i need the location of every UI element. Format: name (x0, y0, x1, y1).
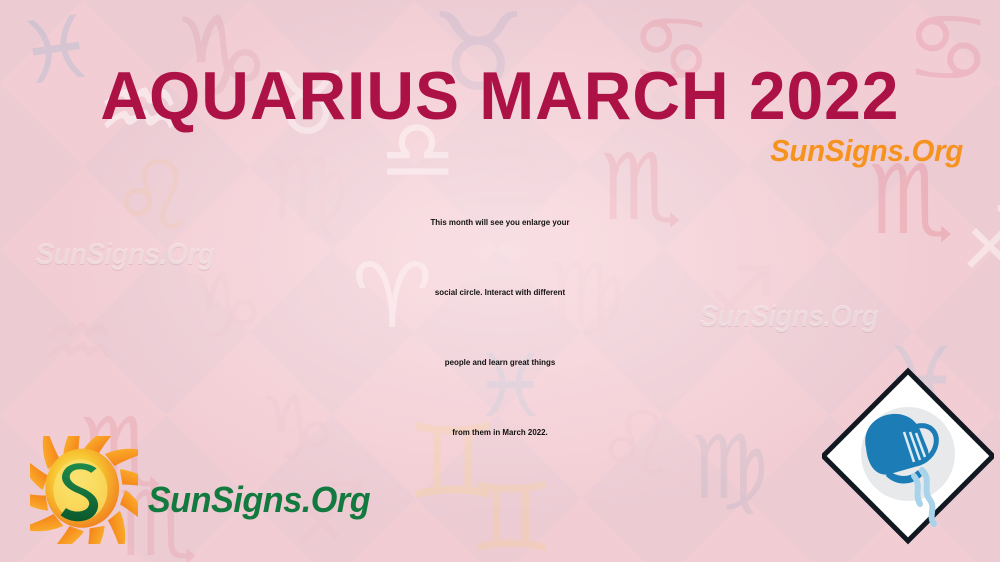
page-title: AQUARIUS MARCH 2022 (100, 62, 899, 130)
brand-wordmark-bottom: SunSigns.Org (148, 479, 370, 521)
horoscope-card: ♓♑♉♋♋♒♉♎♎♌♍♏♏♐♑♈♍♐♒♓♓♑♏♊♌♍♊♏♐ SunSigns.O… (0, 0, 1000, 562)
body-line: This month will see you enlarge your (23, 188, 977, 258)
site-logo-block[interactable]: SunSigns.Org (30, 436, 376, 544)
aquarius-water-bearer-icon (822, 358, 994, 554)
title-row: AQUARIUS MARCH 2022 (0, 62, 1000, 130)
body-line: social circle. Interact with different (23, 258, 977, 328)
brand-wordmark-top: SunSigns.Org (770, 135, 963, 166)
sun-logo-icon (30, 436, 138, 544)
